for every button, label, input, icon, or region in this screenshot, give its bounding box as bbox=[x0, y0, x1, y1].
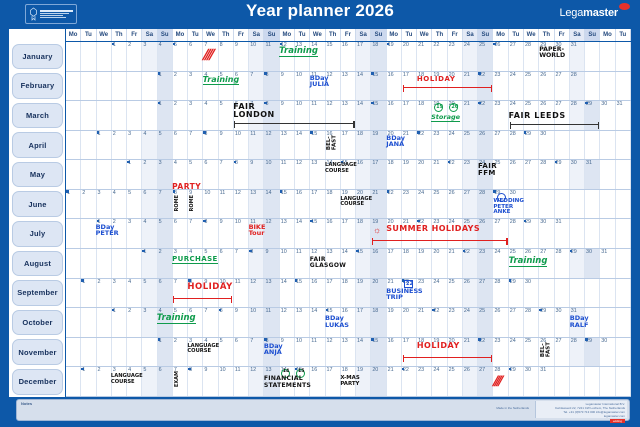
imprint-badge: edding bbox=[610, 419, 625, 423]
annotation-duration-bar bbox=[234, 123, 354, 124]
annotation-duration-bar bbox=[510, 124, 600, 125]
annotation-oct-bday-ralf: BDay RALF bbox=[570, 315, 589, 328]
annotation-feb-holiday: HOLIDAY bbox=[417, 76, 456, 83]
annotation-jun-lang-course: LANGUAGE COURSE bbox=[340, 197, 372, 208]
annotation-day-circle bbox=[281, 369, 290, 378]
annotation-sep-holiday: HOLIDAY bbox=[187, 283, 232, 292]
made-in-label: Made in the Netherlands bbox=[496, 406, 529, 410]
annotation-dec-lang-course: LANGUAGE COURSE bbox=[111, 374, 143, 385]
annotation-aug-training: Training bbox=[509, 257, 548, 267]
annotation-jan-scribble: ∕∕∕∕ bbox=[201, 47, 213, 63]
annotation-dec-exam: EXAM bbox=[175, 371, 180, 387]
imprint-line-4: legamaster.com bbox=[538, 414, 625, 418]
brand-master: master bbox=[583, 7, 618, 19]
annotation-dec-xmas: X-MAS PARTY bbox=[340, 376, 359, 387]
annotation-dec-financial: FINANCIAL STATEMENTS bbox=[264, 376, 311, 389]
annotation-duration-bar bbox=[372, 240, 508, 241]
annotation-day-circle bbox=[449, 103, 458, 112]
annotation-oct-training: Training bbox=[157, 314, 196, 324]
annotation-mar-storage: Storage bbox=[431, 114, 460, 122]
annotation-jan-paperworld: PAPER- WORLD bbox=[539, 47, 565, 60]
brand-logo: Legamaster bbox=[559, 7, 630, 19]
annotation-jul-summer: SUMMER HOLIDAYS bbox=[386, 225, 480, 233]
annotation-nov-lang-course: LANGUAGE COURSE bbox=[187, 344, 219, 355]
brand-dot-icon bbox=[619, 3, 630, 10]
planner-board: MoTuWeThFrSaSuMoTuWeThFrSaSuMoTuWeThFrSa… bbox=[8, 28, 632, 398]
annotation-nov-holiday: HOLIDAY bbox=[417, 342, 460, 350]
handwriting-overlay: ∕∕∕∕TrainingPAPER- WORLDTrainingBDay JUL… bbox=[9, 29, 631, 397]
notes-strip[interactable]: Notes Made in the Netherlands Legamaster… bbox=[16, 399, 630, 421]
imprint-block: Legamaster International B.V. Kwinkweerd… bbox=[535, 401, 627, 418]
year-planner-page: Year planner 2026 Legamaster MoTuWeThFrS… bbox=[0, 0, 640, 427]
annotation-aug-fair-glasgow: FAIR GLASGOW bbox=[310, 257, 346, 269]
annotation-nov-bday-anja: BDay ANJA bbox=[264, 343, 283, 356]
page-title: Year planner 2026 bbox=[0, 1, 640, 21]
annotation-day-circle bbox=[434, 103, 443, 112]
annotation-jun-wedding: WEDDING PETER ANKE bbox=[493, 199, 524, 216]
annotation-feb-training: Training bbox=[203, 76, 240, 85]
annotation-sun-icon: ☼ bbox=[373, 225, 381, 235]
annotation-jun-rome1: ROME bbox=[175, 195, 180, 212]
annotation-jul-bike-tour: BIKE Tour bbox=[249, 224, 266, 237]
brand-lega: Lega bbox=[559, 7, 583, 19]
annotation-oct-bday-lukas: BDay LUKAS bbox=[325, 315, 349, 328]
annotation-nov-belfast: BEL- FAST bbox=[541, 342, 552, 357]
annotation-may-fair-ffm: FAIR FFM bbox=[478, 163, 497, 177]
notes-label: Notes bbox=[21, 401, 32, 406]
annotation-day-circle bbox=[296, 369, 305, 378]
annotation-jan-training: Training bbox=[279, 47, 318, 57]
annotation-aug-purchase: PURCHASE bbox=[172, 256, 218, 264]
annotation-feb-bday-julia: BDay JULIA bbox=[310, 75, 329, 88]
annotation-day-square bbox=[404, 280, 413, 288]
annotation-may-lang-course: LANGUAGE COURSE bbox=[325, 163, 357, 174]
annotation-duration-bar bbox=[173, 298, 232, 299]
annotation-apr-belfast: BEL- FAST bbox=[327, 135, 338, 150]
annotation-apr-bday-jana: BDay JANA bbox=[386, 135, 405, 148]
annotation-mar-fair-leeds: FAIR LEEDS bbox=[509, 112, 566, 120]
annotation-duration-bar bbox=[403, 357, 493, 358]
annotation-jun-rome2: ROME bbox=[190, 195, 195, 212]
annotation-jul-bday-peter: BDay PETER bbox=[96, 224, 119, 237]
annotation-dec-scribble: ∕∕∕∕ bbox=[491, 374, 502, 389]
annotation-day-circle bbox=[497, 193, 506, 202]
annotation-duration-bar bbox=[403, 87, 493, 88]
annotation-may-party: PARTY bbox=[172, 183, 201, 191]
annotation-sep-business-trip: BUSINESS TRIP bbox=[386, 288, 422, 301]
annotation-mar-fair-london: FAIR LONDON bbox=[233, 103, 274, 119]
app-header: Year planner 2026 Legamaster bbox=[0, 0, 640, 28]
